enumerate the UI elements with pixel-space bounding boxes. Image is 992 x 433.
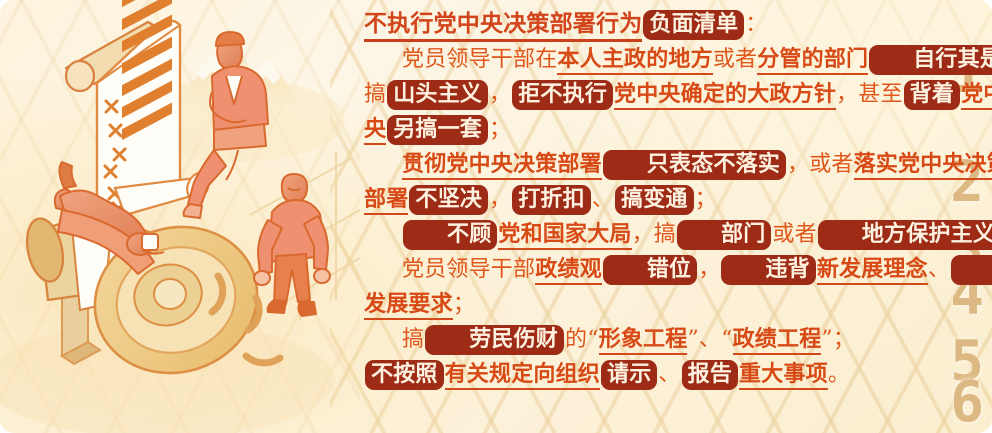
body-text: ，搞 [632, 222, 676, 247]
highlight-badge: 只表态不落实 [603, 150, 786, 180]
highlight-badge: 不顾 [403, 220, 497, 250]
body-text: 搞 [364, 82, 386, 107]
body-text: 、 [592, 187, 614, 212]
body-text: 或者 [713, 47, 757, 72]
text-line-l5: 搞劳民伤财的“形象工程”、“政绩工程”； [364, 322, 944, 357]
highlight-badge: 打折扣 [512, 185, 591, 215]
text-line-l2a: 贯彻党中央决策部署只表态不落实，或者落实党中央决策 [364, 147, 944, 182]
text-line-title: 不执行党中央决策部署行为负面清单： [364, 6, 944, 42]
highlight-badge: 自行其是 [869, 45, 992, 75]
emphasis-underline-text: 有关规定向组织 [445, 361, 600, 390]
emphasis-underline-text: 重大事项 [739, 361, 828, 390]
emphasis-underline-text: 政绩观 [535, 256, 602, 285]
highlight-badge: 另搞一套 [387, 115, 488, 145]
highlight-badge: 搞变通 [615, 185, 694, 215]
emphasis-underline-text: 发展要求 [364, 291, 453, 320]
highlight-badge: 背着 [904, 80, 960, 110]
highlight-badge: 部门 [677, 220, 771, 250]
text-line-l4a: 党员领导干部政绩观错位，违背新发展理念、背离高质量 [364, 252, 944, 287]
highlight-badge: 报告 [682, 360, 738, 390]
body-text: ，或者 [787, 152, 854, 177]
emphasis-underline-text: 党中 [961, 81, 992, 110]
emphasis-underline-text: 政绩工程 [733, 326, 822, 355]
emphasis-underline-text: 央 [364, 116, 386, 145]
highlight-badge: 劳民伤财 [425, 325, 564, 355]
text-line-l1c: 央另搞一套； [364, 112, 944, 147]
body-text: 党员领导干部在 [402, 47, 557, 72]
emphasis-underline-text: 落实党中央决策 [854, 151, 992, 180]
watermark-number-5: 5 [950, 334, 982, 390]
text-line-l2b: 部署不坚决，打折扣、搞变通； [364, 182, 944, 217]
emphasis-underline-text: 形象工程 [599, 326, 688, 355]
isometric-illustration [0, 0, 360, 433]
text-line-l1a: 党员领导干部在本人主政的地方或者分管的部门自行其是， [364, 42, 944, 77]
walking-figure [254, 174, 330, 316]
emphasis-underline-text: 新发展理念 [817, 256, 928, 285]
poster-card: 1 2 3 4 5 6 不执行党中央决策部署行为负面清单：党员领导干部在本人主政… [0, 0, 992, 433]
text-line-l4b: 发展要求； [364, 287, 944, 322]
highlight-badge: 拒不执行 [512, 80, 613, 110]
highlight-badge: 不坚决 [409, 185, 488, 215]
body-text: 、 [658, 362, 680, 387]
emphasis-underline-text: 贯彻党中央决策部署 [402, 151, 602, 180]
body-text: ”； [821, 327, 855, 352]
body-text: ， [698, 257, 720, 282]
highlight-badge: 山头主义 [387, 80, 488, 110]
highlight-badge: 负面清单 [643, 10, 744, 40]
body-text: 、 [928, 257, 950, 282]
highlight-badge: 错位 [603, 255, 697, 285]
body-text: ； [453, 292, 475, 317]
body-text: 搞 [402, 327, 424, 352]
highlight-badge: 请示 [601, 360, 657, 390]
body-text: 或者 [772, 222, 816, 247]
poster-text-column: 不执行党中央决策部署行为负面清单：党员领导干部在本人主政的地方或者分管的部门自行… [364, 6, 944, 392]
highlight-badge: 背离 [951, 255, 992, 285]
highlight-badge: 不按照 [365, 360, 444, 390]
body-text: ，甚至 [836, 82, 903, 107]
emphasis-underline-text: 党中央确定的大政方针 [614, 81, 836, 110]
highlight-badge: 地方保护主义 [818, 220, 992, 250]
emphasis-underline-text: 党和国家大局 [498, 221, 631, 250]
emphasis-underline-text: 分管的部门 [757, 46, 868, 75]
text-line-l3: 不顾党和国家大局，搞部门或者地方保护主义； [364, 217, 944, 252]
body-text: ”、“ [687, 327, 732, 352]
text-line-l1b: 搞山头主义，拒不执行党中央确定的大政方针，甚至背着党中 [364, 77, 944, 112]
body-text: 的“ [565, 327, 599, 352]
text-line-l6: 不按照有关规定向组织请示、报告重大事项。 [364, 357, 944, 392]
body-text: ， [489, 187, 511, 212]
emphasis-underline-text: 部署 [364, 186, 408, 215]
highlight-badge: 违背 [721, 255, 815, 285]
emphasis-underline-text: 本人主政的地方 [557, 46, 712, 75]
body-text: ； [489, 117, 511, 142]
watermark-number-6: 6 [950, 375, 982, 431]
body-text: ， [489, 82, 511, 107]
body-text: 党员领导干部 [402, 257, 535, 282]
body-text: ： [745, 12, 767, 37]
poster-title-text: 不执行党中央决策部署行为 [364, 10, 642, 42]
body-text: ； [695, 187, 717, 212]
body-text: 。 [828, 362, 850, 387]
